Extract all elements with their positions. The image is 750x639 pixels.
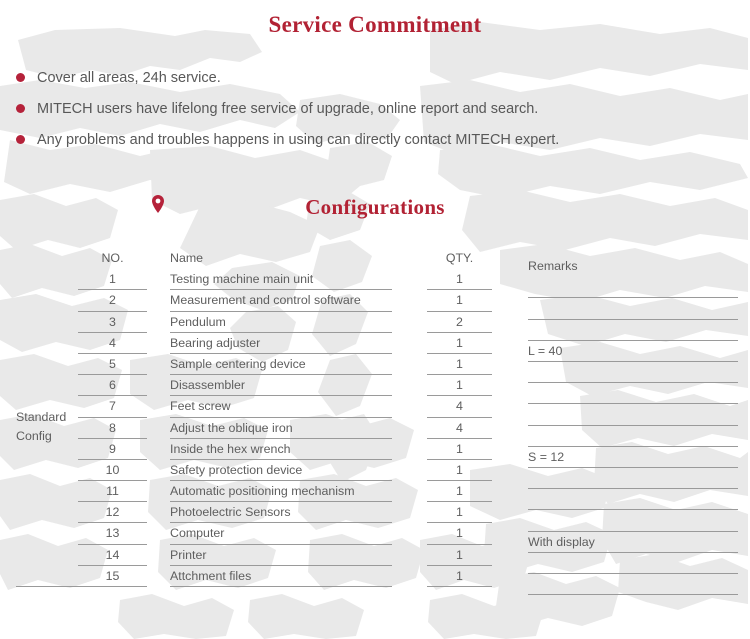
qty-cell: 1: [427, 439, 492, 460]
qty-cell: 1: [427, 523, 492, 544]
table-row: 6 Disassembler 1: [0, 375, 750, 396]
table-row: 12 Photoelectric Sensors 1: [0, 502, 750, 523]
qty-cell: 4: [427, 418, 492, 439]
no-cell: 12: [78, 502, 147, 523]
no-cell: 15: [78, 566, 147, 587]
no-cell: 5: [78, 354, 147, 375]
qty-cell: 1: [427, 269, 492, 290]
service-commitment-title: Service Commitment: [0, 12, 750, 38]
table-row: 13 Computer 1: [0, 523, 750, 544]
bullet-text: Cover all areas, 24h service.: [37, 70, 221, 86]
no-cell: 3: [78, 312, 147, 333]
table-row: 11 Automatic positioning mechanism 1: [0, 481, 750, 502]
list-item: Cover all areas, 24h service.: [16, 62, 716, 93]
name-cell: Printer: [170, 545, 392, 566]
table-row: 2 Measurement and control software 1: [0, 290, 750, 311]
table-row: 4 Bearing adjuster 1: [0, 333, 750, 354]
name-cell: Attchment files: [170, 566, 392, 587]
qty-cell: 2: [427, 312, 492, 333]
table-row: 8 Adjust the oblique iron 4: [0, 418, 750, 439]
name-cell: Adjust the oblique iron: [170, 418, 392, 439]
no-cell: 10: [78, 460, 147, 481]
name-cell: Safety protection device: [170, 460, 392, 481]
qty-cell: 1: [427, 333, 492, 354]
configurations-table: Standard Config Remarks L = 40 S = 12 Wi…: [0, 248, 750, 587]
qty-cell: 1: [427, 545, 492, 566]
name-cell: Inside the hex wrench: [170, 439, 392, 460]
bullet-text: Any problems and troubles happens in usi…: [37, 132, 559, 148]
name-cell: Sample centering device: [170, 354, 392, 375]
qty-cell: 1: [427, 460, 492, 481]
service-bullet-list: Cover all areas, 24h service. MITECH use…: [16, 62, 716, 155]
table-row: 9 Inside the hex wrench 1: [0, 439, 750, 460]
qty-cell: 4: [427, 396, 492, 417]
bullet-dot-icon: [16, 104, 25, 113]
name-cell: Feet screw: [170, 396, 392, 417]
table-row: 10 Safety protection device 1: [0, 460, 750, 481]
no-cell: 13: [78, 523, 147, 544]
name-cell: Disassembler: [170, 375, 392, 396]
table-row: 7 Feet screw 4: [0, 396, 750, 417]
bullet-text: MITECH users have lifelong free service …: [37, 101, 538, 117]
no-cell: 8: [78, 418, 147, 439]
no-cell: 2: [78, 290, 147, 311]
table-row: 1 Testing machine main unit 1: [0, 269, 750, 290]
column-header-qty: QTY.: [427, 248, 492, 269]
no-cell: 4: [78, 333, 147, 354]
name-cell: Measurement and control software: [170, 290, 392, 311]
column-header-name: Name: [170, 248, 392, 269]
no-cell: 7: [78, 396, 147, 417]
table-row: 14 Printer 1: [0, 545, 750, 566]
qty-cell: 1: [427, 502, 492, 523]
name-cell: Pendulum: [170, 312, 392, 333]
name-cell: Computer: [170, 523, 392, 544]
configurations-title: Configurations: [0, 195, 750, 220]
no-cell: 1: [78, 269, 147, 290]
qty-cell: 1: [427, 481, 492, 502]
qty-cell: 1: [427, 290, 492, 311]
no-cell: 14: [78, 545, 147, 566]
table-row: 15 Attchment files 1: [0, 566, 750, 587]
qty-cell: 1: [427, 354, 492, 375]
bullet-dot-icon: [16, 73, 25, 82]
no-cell: 6: [78, 375, 147, 396]
table-row: 3 Pendulum 2: [0, 312, 750, 333]
bullet-dot-icon: [16, 135, 25, 144]
no-cell: 11: [78, 481, 147, 502]
qty-cell: 1: [427, 566, 492, 587]
qty-cell: 1: [427, 375, 492, 396]
table-row: 5 Sample centering device 1: [0, 354, 750, 375]
table-header-row: NO. Name QTY.: [0, 248, 750, 269]
list-item: MITECH users have lifelong free service …: [16, 93, 716, 124]
no-cell: 9: [78, 439, 147, 460]
name-cell: Bearing adjuster: [170, 333, 392, 354]
name-cell: Automatic positioning mechanism: [170, 481, 392, 502]
name-cell: Photoelectric Sensors: [170, 502, 392, 523]
name-cell: Testing machine main unit: [170, 269, 392, 290]
column-header-no: NO.: [78, 248, 147, 269]
list-item: Any problems and troubles happens in usi…: [16, 124, 716, 155]
